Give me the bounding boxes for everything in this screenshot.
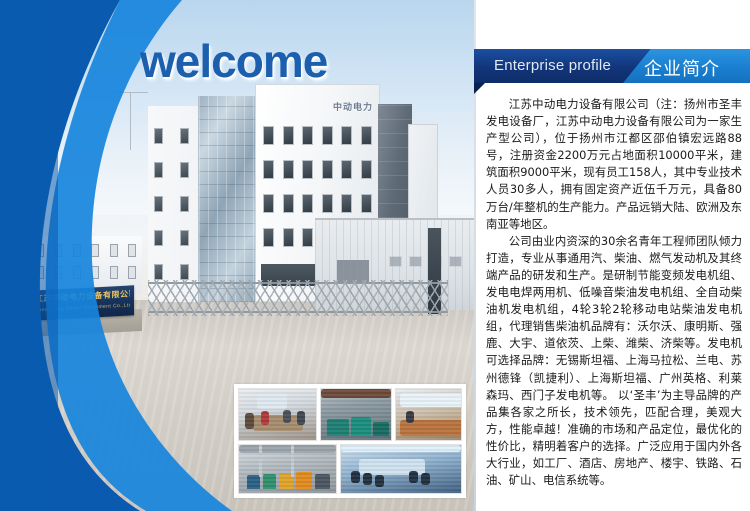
construction-crane <box>130 92 131 150</box>
photo-conference-room <box>340 444 462 494</box>
shed-window <box>409 256 422 267</box>
window <box>283 160 294 179</box>
window <box>341 126 352 145</box>
window <box>302 126 313 145</box>
window <box>180 230 189 246</box>
profile-paragraph-1: 江苏中动电力设备有限公司（注：扬州市圣丰发电设备厂，江苏中动电力设备有限公司为一… <box>486 96 742 233</box>
profile-body-text: 江苏中动电力设备有限公司（注：扬州市圣丰发电设备厂，江苏中动电力设备有限公司为一… <box>486 96 742 489</box>
building-sign-text: 中动电力 <box>333 100 373 113</box>
window <box>91 244 99 257</box>
banner-english-label: Enterprise profile <box>494 57 611 74</box>
section-banner: Enterprise profile 企业简介 <box>474 49 750 83</box>
window <box>36 266 44 279</box>
window <box>361 126 372 145</box>
wall-sign-chinese: 江苏中动电力设备有限公司 <box>35 288 130 304</box>
shed-window <box>389 256 402 267</box>
window <box>361 160 372 179</box>
window <box>180 264 189 280</box>
window <box>322 126 333 145</box>
window <box>341 160 352 179</box>
window <box>263 160 274 179</box>
window <box>54 244 62 257</box>
company-profile-page: 中动电力 <box>0 0 750 511</box>
photo-meeting-room-staff <box>238 388 317 441</box>
window <box>322 194 333 213</box>
profile-content-panel: Enterprise profile 企业简介 江苏中动电力设备有限公司（注：扬… <box>474 0 750 511</box>
photo-generator-warehouse <box>238 444 337 494</box>
window <box>302 194 313 213</box>
photo-open-plan-office <box>395 388 462 441</box>
glass-curtain-wall <box>198 96 258 302</box>
window <box>263 228 274 247</box>
window <box>180 196 189 212</box>
shed-door <box>337 260 369 282</box>
window <box>36 244 44 257</box>
banner-tail-triangle <box>474 83 485 94</box>
window <box>283 228 294 247</box>
welcome-headline: welcome <box>140 38 327 84</box>
company-wall-sign: 江苏中动电力设备有限公司 Zhongdong Power Equipment C… <box>30 285 134 320</box>
window <box>322 160 333 179</box>
window <box>302 228 313 247</box>
window <box>341 194 352 213</box>
window <box>128 266 136 279</box>
window <box>154 230 163 246</box>
window <box>180 128 189 144</box>
window <box>263 126 274 145</box>
window <box>180 162 189 178</box>
window <box>73 266 81 279</box>
banner-chinese-label: 企业简介 <box>644 55 720 81</box>
window <box>73 244 81 257</box>
window <box>154 264 163 280</box>
photo-generator-assembly-workshop <box>320 388 392 441</box>
window <box>263 194 274 213</box>
hero-visual-panel: 中动电力 <box>0 0 474 511</box>
retractable-factory-gate <box>148 280 448 316</box>
window <box>302 160 313 179</box>
shed-window <box>449 256 462 267</box>
window <box>54 266 62 279</box>
window <box>154 196 163 212</box>
window <box>283 194 294 213</box>
window <box>283 126 294 145</box>
profile-paragraph-2: 公司由业内资深的30余名青年工程师团队倾力打造，专业从事通用汽、柴油、燃气发动机… <box>486 233 742 489</box>
wall-sign-english: Zhongdong Power Equipment Co.,Ltd <box>35 302 130 313</box>
window <box>154 162 163 178</box>
window <box>154 128 163 144</box>
photo-collage <box>234 384 466 498</box>
window <box>91 266 99 279</box>
window <box>110 244 118 257</box>
window <box>361 194 372 213</box>
window <box>128 244 136 257</box>
window <box>110 266 118 279</box>
